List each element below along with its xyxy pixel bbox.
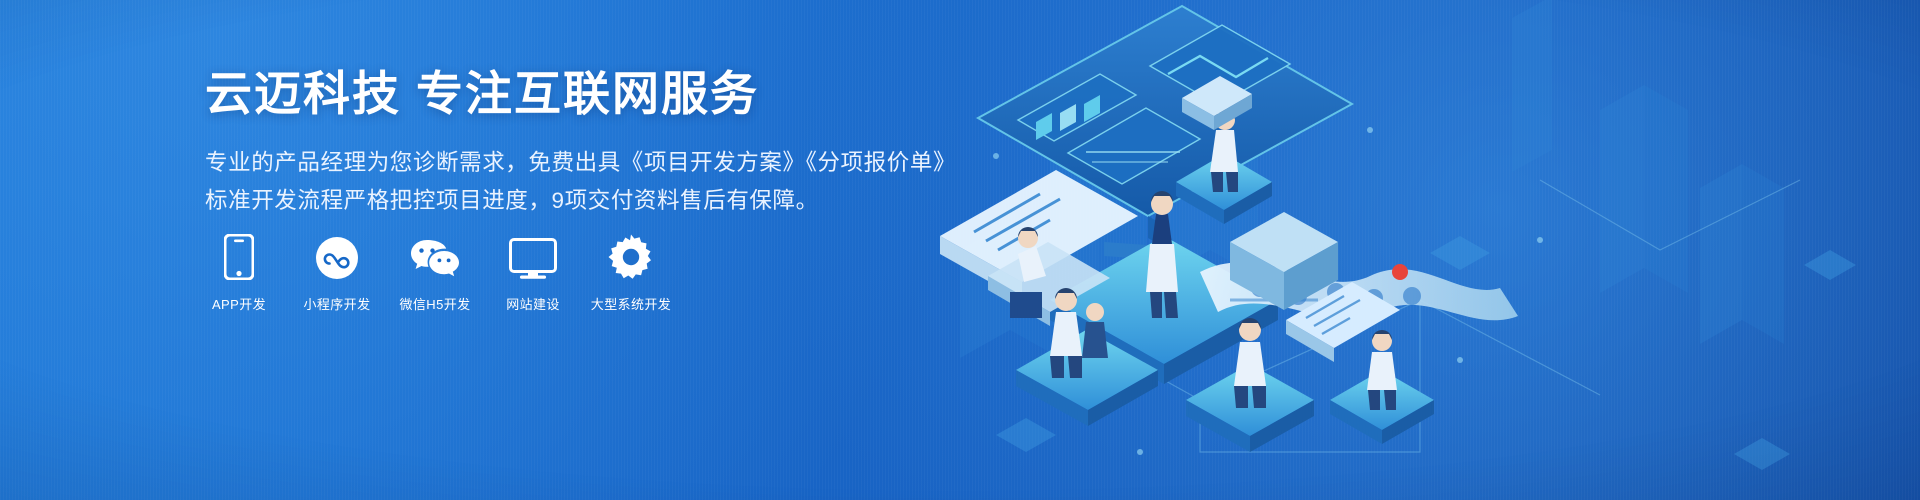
figure-lower-right [1330,330,1434,444]
service-list: APP开发 小程序开发 微信 [203,234,667,313]
service-label: 小程序开发 [303,294,370,313]
hero-subtitle: 专业的产品经理为您诊断需求，免费出具《项目开发方案》《分项报价单》 标准开发流程… [205,145,945,219]
wechat-icon [409,234,461,280]
page-title: 云迈科技 专注互联网服务 [205,66,945,121]
isometric-team-dashboard-illustration [900,0,1920,500]
mini-program-icon [315,234,359,280]
gear-icon [608,234,654,280]
service-item-app[interactable]: APP开发 [203,234,275,313]
service-label: 网站建设 [506,294,560,313]
subtitle-line-1: 专业的产品经理为您诊断需求，免费出具《项目开发方案》《分项报价单》 [205,145,945,181]
service-item-wechat-h5[interactable]: 微信H5开发 [399,234,471,313]
service-item-mini-program[interactable]: 小程序开发 [301,234,373,313]
hero-banner: 云迈科技 专注互联网服务 专业的产品经理为您诊断需求，免费出具《项目开发方案》《… [0,0,1920,500]
service-label: APP开发 [212,294,266,313]
subtitle-line-2: 标准开发流程严格把控项目进度，9项交付资料售后有保障。 [205,183,945,219]
hero-copy: 云迈科技 专注互联网服务 专业的产品经理为您诊断需求，免费出具《项目开发方案》《… [205,66,945,221]
mobile-phone-icon [224,234,254,280]
service-label: 微信H5开发 [399,294,470,313]
service-item-website[interactable]: 网站建设 [497,234,569,313]
monitor-icon [509,234,557,280]
service-item-large-system[interactable]: 大型系统开发 [595,234,667,313]
service-label: 大型系统开发 [591,294,671,313]
